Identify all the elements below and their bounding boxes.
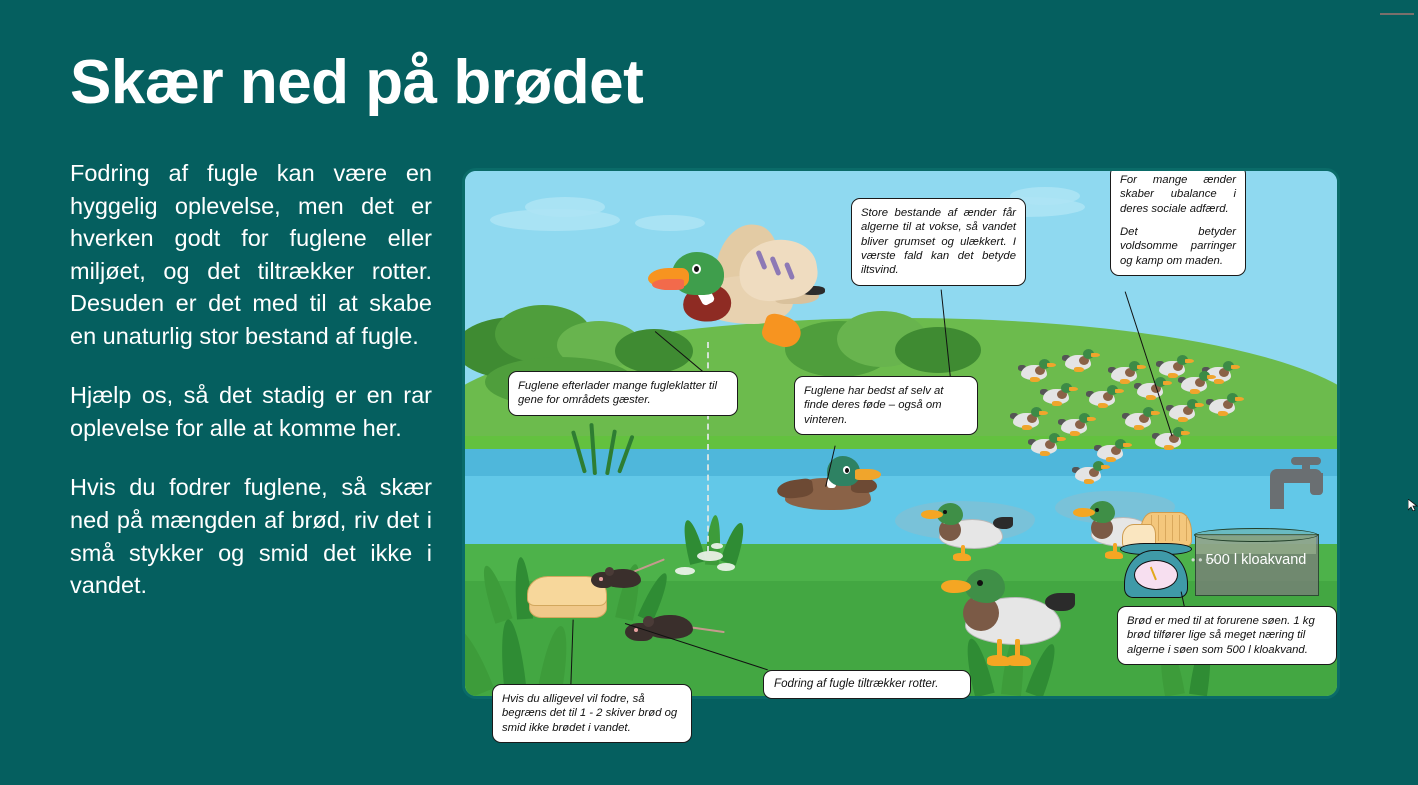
poster-root: Skær ned på brødet Fodring af fugle kan …: [0, 0, 1418, 785]
callout-text: Store bestande af ænder får algerne til …: [861, 206, 1016, 278]
page-title: Skær ned på brødet: [70, 50, 432, 115]
callout-text: For mange ænder skaber ubalance i deres …: [1120, 173, 1236, 216]
duck-pupil: [845, 468, 849, 473]
duck-bill: [1231, 365, 1240, 369]
duck-foot: [1030, 377, 1040, 382]
duck-bill: [1163, 381, 1172, 385]
duck-bill: [1137, 365, 1146, 369]
scale-tank-dots: ••••: [1191, 553, 1220, 567]
duck-bill: [855, 469, 881, 480]
duck-foot: [1106, 457, 1116, 462]
kitchen-scale: [1120, 516, 1192, 601]
duck-foot: [953, 553, 971, 561]
duck-eye: [1095, 508, 1099, 512]
flying-duck: [655, 226, 830, 351]
duck-foot: [1084, 479, 1094, 484]
duck-bill: [1069, 387, 1078, 391]
duck-eye: [943, 510, 947, 514]
standing-duck-bank: [935, 503, 1021, 565]
bread-slice-line: [1165, 515, 1166, 541]
duck-tail: [993, 517, 1013, 529]
duck-foot: [1098, 403, 1108, 408]
swimming-duck: [777, 456, 887, 518]
duck-bill: [1181, 431, 1190, 435]
duck-foot: [1164, 445, 1174, 450]
duck-foot: [1214, 379, 1224, 384]
callout-text: Hvis du alligevel vil fodre, så begræns …: [502, 692, 682, 735]
callout-text: Brød er med til at forurene søen. 1 kg b…: [1127, 614, 1327, 657]
rat-eye: [599, 577, 603, 581]
callout-fugleklatter: Fuglene efterlader mange fugleklatter ti…: [508, 371, 738, 416]
bread-slice-line: [1179, 515, 1180, 541]
duck-foot: [1146, 395, 1156, 400]
duck-foot: [1022, 425, 1032, 430]
duck-bill-lower: [652, 279, 684, 290]
callout-text: Fuglene har bedst af selv at finde deres…: [804, 384, 968, 427]
callout-text: Fodring af fugle tiltrækker rotter.: [774, 677, 960, 692]
cursor-icon: [1408, 498, 1418, 510]
scale-dial: [1134, 560, 1178, 590]
rat-ear: [643, 616, 654, 627]
duck-bill: [1207, 375, 1216, 379]
duck-bill: [1115, 389, 1124, 393]
duck-foot: [1074, 367, 1084, 372]
duck-eye: [977, 580, 983, 586]
bread-slice-line: [1172, 515, 1173, 541]
faucet-stem: [1302, 459, 1310, 473]
callout-begraens-fodring: Hvis du alligevel vil fodre, så begræns …: [492, 684, 692, 743]
bread-slice-line: [1186, 515, 1187, 541]
duck-foot: [1120, 379, 1130, 384]
callout-store-bestande: Store bestande af ænder får algerne til …: [851, 198, 1026, 286]
tank-rim: [1194, 528, 1318, 542]
duck-foot: [1007, 655, 1031, 666]
rat: [591, 565, 655, 591]
duck-foot: [1178, 417, 1188, 422]
intro-paragraph-3: Hvis du fodrer fuglene, så skær ned på m…: [70, 471, 432, 601]
duck-bill: [1091, 353, 1100, 357]
intro-paragraph-2: Hjælp os, så det stadig er en rar opleve…: [70, 379, 432, 444]
intro-paragraph-1: Fodring af fugle kan være en hyggelig op…: [70, 157, 432, 352]
duck-pupil: [694, 266, 699, 272]
callout-text: Fuglene efterlader mange fugleklatter ti…: [518, 379, 728, 408]
callout-tiltraekker-rotter: Fodring af fugle tiltrækker rotter.: [763, 670, 971, 699]
duck-foot: [1168, 373, 1178, 378]
callout-aender-ubalance: For mange ænder skaber ubalance i deres …: [1110, 171, 1246, 276]
duck-bill: [1123, 443, 1132, 447]
duck-foot: [1190, 389, 1200, 394]
callout-text: Det betyder voldsomme parringer og kamp …: [1120, 225, 1236, 268]
callout-forurene-soeen: Brød er med til at forurene søen. 1 kg b…: [1117, 606, 1337, 665]
bird-dropping: [697, 551, 723, 561]
duck-foot: [1134, 425, 1144, 430]
duck-foot: [759, 311, 804, 351]
faucet-spout: [1310, 473, 1323, 495]
illustration-panel: •••• 500 l kloakvand: [462, 168, 1340, 699]
duck-bill: [1039, 411, 1048, 415]
bird-dropping: [675, 567, 695, 575]
duck-bill: [1151, 411, 1160, 415]
duck-foot: [1052, 401, 1062, 406]
duck-bill: [1185, 359, 1194, 363]
duck-bill: [1195, 403, 1204, 407]
cloud-icon: [525, 197, 605, 217]
duck-bill: [1101, 465, 1110, 469]
bread-slice-line: [1158, 515, 1159, 541]
bird-dropping: [717, 563, 735, 571]
duck-bill: [1047, 363, 1056, 367]
foreground-duck: [955, 569, 1085, 674]
illustration-canvas: •••• 500 l kloakvand: [465, 171, 1337, 696]
bush-icon: [895, 327, 981, 373]
duck-foot: [1040, 451, 1050, 456]
text-column: Skær ned på brødet Fodring af fugle kan …: [70, 50, 432, 602]
render-artifact-line: [1380, 13, 1414, 15]
duck-bill: [1057, 437, 1066, 441]
duck-tail: [1045, 593, 1075, 611]
duck-head: [965, 569, 1005, 603]
duck-bill: [1235, 397, 1244, 401]
duck-foot: [1218, 411, 1228, 416]
duck-bill: [1087, 417, 1096, 421]
callout-foede-selv: Fuglene har bedst af selv at finde deres…: [794, 376, 978, 435]
duck-foot: [1070, 431, 1080, 436]
bird-dropping: [711, 543, 723, 549]
rat-ear: [605, 567, 614, 576]
cursor-glyph: [1408, 499, 1418, 511]
